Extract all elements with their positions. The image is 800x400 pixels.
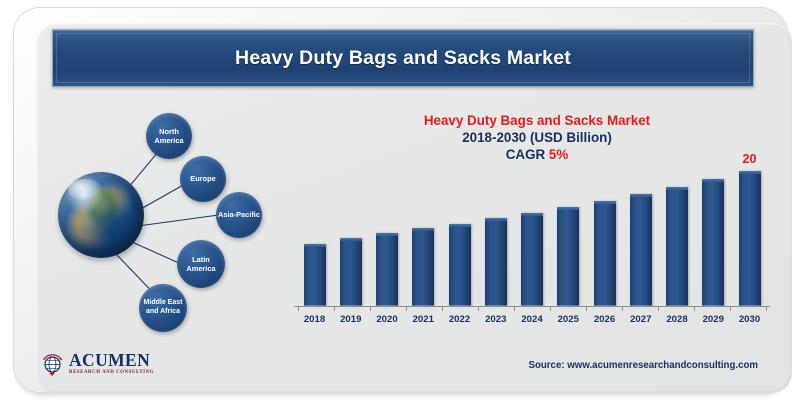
- bar-slot: [479, 164, 512, 306]
- axis-tick: [334, 307, 335, 311]
- bar-slot: 20: [733, 164, 766, 306]
- cagr-value: 5%: [549, 147, 568, 162]
- x-label-2029: 2029: [697, 314, 730, 325]
- bar-2019[interactable]: [340, 238, 362, 306]
- bar-2020[interactable]: [376, 233, 398, 306]
- region-bubble-latin-america[interactable]: Latin America: [177, 240, 225, 288]
- region-label: Middle East and Africa: [139, 299, 187, 316]
- axis-tick: [622, 307, 623, 311]
- x-label-2022: 2022: [443, 314, 476, 325]
- x-label-2021: 2021: [407, 314, 440, 325]
- x-label-2028: 2028: [661, 314, 694, 325]
- bar-series: 20: [292, 164, 772, 306]
- source-note: Source: www.acumenresearchandconsulting.…: [528, 360, 758, 371]
- logo-tagline: RESEARCH AND CONSULTING: [69, 371, 154, 376]
- bar-2023[interactable]: [485, 218, 507, 306]
- region-label: North America: [146, 127, 192, 145]
- axis-tick: [766, 307, 767, 311]
- x-label-2030: 2030: [733, 314, 766, 325]
- world-globe-icon: [58, 172, 144, 258]
- axis-tick: [730, 307, 731, 311]
- logo-name: ACUMEN: [69, 352, 154, 370]
- bar-slot: [697, 164, 730, 306]
- acumen-logo: ACUMEN RESEARCH AND CONSULTING: [40, 347, 220, 381]
- title-banner: Heavy Duty Bags and Sacks Market: [52, 29, 754, 87]
- axis-tick: [370, 307, 371, 311]
- chart-cagr: CAGR 5%: [387, 146, 687, 163]
- region-bubble-north-america[interactable]: North America: [146, 113, 192, 159]
- axis-tick: [550, 307, 551, 311]
- bar-slot: [443, 164, 476, 306]
- axis-tick: [514, 307, 515, 311]
- bar-slot: [516, 164, 549, 306]
- x-label-2025: 2025: [552, 314, 585, 325]
- axis-tick: [442, 307, 443, 311]
- region-label: Latin America: [177, 255, 225, 273]
- chart-subtitle: 2018-2030 (USD Billion): [387, 129, 687, 146]
- x-label-2018: 2018: [298, 314, 331, 325]
- bar-2018[interactable]: [304, 244, 326, 306]
- region-label: Asia-Pacific: [218, 210, 260, 219]
- region-bubble-europe[interactable]: Europe: [180, 156, 226, 202]
- chart-heading: Heavy Duty Bags and Sacks Market 2018-20…: [387, 112, 687, 163]
- bar-chart: Heavy Duty Bags and Sacks Market 2018-20…: [292, 104, 772, 334]
- bar-slot: [407, 164, 440, 306]
- bar-2030[interactable]: 20: [739, 171, 761, 306]
- x-label-2024: 2024: [516, 314, 549, 325]
- logo-wordmark: ACUMEN RESEARCH AND CONSULTING: [69, 352, 154, 375]
- bar-slot: [624, 164, 657, 306]
- chart-title: Heavy Duty Bags and Sacks Market: [387, 112, 687, 129]
- bar-2025[interactable]: [557, 207, 579, 306]
- axis-tick: [406, 307, 407, 311]
- bar-2027[interactable]: [630, 194, 652, 306]
- region-bubble-asia-pacific[interactable]: Asia-Pacific: [216, 192, 262, 238]
- x-axis-ticks: [292, 307, 772, 312]
- region-label: Europe: [190, 174, 215, 183]
- x-label-2027: 2027: [624, 314, 657, 325]
- x-label-2026: 2026: [588, 314, 621, 325]
- axis-tick: [658, 307, 659, 311]
- axis-tick: [478, 307, 479, 311]
- bar-slot: [588, 164, 621, 306]
- bar-slot: [334, 164, 367, 306]
- bar-slot: [552, 164, 585, 306]
- bar-2029[interactable]: [702, 179, 724, 306]
- bar-2022[interactable]: [449, 224, 471, 307]
- axis-tick: [298, 307, 299, 311]
- bar-2028[interactable]: [666, 187, 688, 306]
- infographic-root: Heavy Duty Bags and Sacks Market North A…: [0, 0, 800, 400]
- page-title: Heavy Duty Bags and Sacks Market: [235, 47, 571, 70]
- bar-value-label: 20: [742, 152, 756, 166]
- x-axis-labels: 2018201920202021202220232024202520262027…: [292, 314, 772, 325]
- cagr-label: CAGR: [506, 147, 549, 162]
- bar-slot: [371, 164, 404, 306]
- chart-plot-area: 20 2018201920202021202220232024202520262…: [292, 164, 772, 307]
- bar-slot: [661, 164, 694, 306]
- bar-slot: [298, 164, 331, 306]
- globe-logo-icon: [40, 352, 65, 377]
- x-label-2020: 2020: [371, 314, 404, 325]
- x-label-2019: 2019: [334, 314, 367, 325]
- region-bubble-middle-east-africa[interactable]: Middle East and Africa: [139, 284, 187, 332]
- bar-2024[interactable]: [521, 213, 543, 306]
- axis-tick: [586, 307, 587, 311]
- axis-tick: [694, 307, 695, 311]
- bar-2026[interactable]: [594, 201, 616, 307]
- regions-diagram: North America Europe Asia-Pacific Latin …: [40, 96, 300, 336]
- x-label-2023: 2023: [479, 314, 512, 325]
- bar-2021[interactable]: [412, 228, 434, 306]
